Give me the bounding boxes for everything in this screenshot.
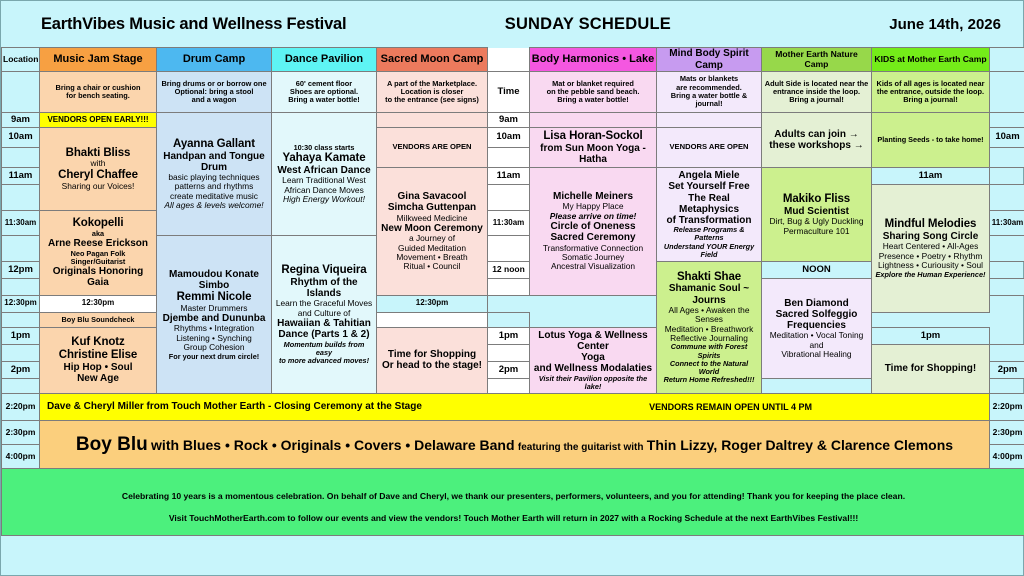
column-header-kids-mother-earth[interactable]: KIDS at Mother Earth Camp (872, 48, 990, 72)
location-label: Location (2, 48, 40, 72)
program-line: these workshops → (765, 140, 868, 151)
time-mid-1230pm: 12:30pm (40, 295, 157, 312)
note-kids-mother-earth: Kids of all ages is located near the ent… (872, 72, 990, 113)
program-line: Milkweed Medicine (380, 214, 484, 223)
note-line: for bench seating. (41, 92, 155, 100)
mind-vendors-open: VENDORS ARE OPEN (657, 128, 762, 168)
program-line: Vibrational Healing (765, 350, 868, 359)
schedule-table: Location Music Jam Stage Drum Camp Dance… (1, 47, 1024, 536)
time-right-noon: NOON (762, 261, 872, 278)
time-right-11am: 11am (872, 168, 990, 185)
program-line: Momentum builds from easy (275, 341, 373, 357)
finale-genres: with Blues • Rock • Originals • Covers •… (151, 437, 515, 453)
program-line: Simcha Guttenpan (380, 202, 484, 213)
note-body-harmonics: Mat or blanket required on the pebble sa… (530, 72, 657, 113)
program-line: New Age (43, 373, 153, 384)
program-line: Cheryl Chaffee (43, 169, 153, 182)
program-line: Kuf Knotz (43, 336, 153, 349)
column-header-mind-body-spirit[interactable]: Mind Body Spirit Camp (657, 48, 762, 72)
mind-9am-empty (657, 113, 762, 128)
block-music-bhakti-bliss[interactable]: Bhakti BlisswithCheryl ChaffeeSharing ou… (40, 128, 157, 211)
block-body-michelle-meiners[interactable]: Michelle MeinersMy Happy PlacePlease arr… (530, 168, 657, 296)
block-sacred-time-for-shopping[interactable]: Time for ShoppingOr head to the stage! (377, 327, 488, 393)
festival-schedule-page: EarthVibes Music and Wellness Festival S… (0, 0, 1024, 576)
program-line: Understand YOUR Energy Field (660, 243, 758, 259)
program-line: All Ages • Awaken the Senses (660, 306, 758, 325)
finale-featuring: featuring the guitarist with (518, 442, 644, 453)
program-line: The Real Metaphysics (660, 193, 758, 215)
time-right-blank-7 (762, 378, 872, 393)
program-line: Circle of Oneness (533, 221, 653, 232)
finale-artists: Thin Lizzy, Roger Daltrey & Clarence Cle… (647, 437, 953, 453)
column-header-sacred-moon-camp[interactable]: Sacred Moon Camp (377, 48, 488, 72)
block-kids-shakti-shae[interactable]: Shakti ShaeShamanic Soul ~ JournsAll Age… (657, 261, 762, 393)
time-right-400pm: 4:00pm (990, 444, 1024, 468)
column-header-dance-pavilion[interactable]: Dance Pavilion (272, 48, 377, 72)
program-line: Sharing our Voices! (43, 182, 153, 191)
time-right-9am (990, 113, 1024, 128)
program-line: Shakti Shae (660, 271, 758, 284)
closing-ceremony-row: 2:20pm Dave & Cheryl Miller from Touch M… (2, 393, 1024, 420)
program-line: Planting Seeds - to take home! (875, 136, 986, 144)
time-mid-2pm: 2pm (488, 361, 530, 378)
program-line: Rhythm of the Islands (275, 277, 373, 299)
schedule-title: SUNDAY SCHEDULE (346, 15, 889, 34)
block-drum-mamoudou-konate[interactable]: Mamoudou Konate SimboRemmi NicoleMaster … (157, 236, 272, 394)
footer-thankyou-text: Celebrating 10 years is a momentous cele… (3, 492, 1024, 502)
program-line: and Wellness Modalaties (533, 363, 653, 374)
time-left-12pm: 12pm (2, 261, 40, 278)
time-right-blank-2 (990, 185, 1024, 211)
time-right-blank-6 (990, 344, 1024, 361)
program-line: Connect to the Natural World (660, 360, 758, 376)
program-line: Dance (Parts 1 & 2) (275, 329, 373, 340)
schedule-row-1pm: 1pm Kuf KnotzChristine EliseHip Hop • So… (2, 327, 1024, 344)
note-line: Bring a water bottle! (273, 96, 375, 104)
note-music-jam-stage: Bring a chair or cushion for bench seati… (40, 72, 157, 113)
header-gap (488, 48, 530, 72)
time-left-1230pm: 12:30pm (2, 295, 40, 312)
time-left-2pm: 2pm (2, 361, 40, 378)
program-line: Originals Honoring Gaia (43, 266, 153, 288)
program-line: Release Programs & Patterns (660, 226, 758, 242)
time-left-blank-3 (2, 236, 40, 262)
program-line: Christine Elise (43, 349, 153, 362)
block-mind-ben-diamond[interactable]: Ben DiamondSacred SolfeggioFrequenciesMe… (762, 278, 872, 378)
time-right-1230pm: 12:30pm (377, 295, 488, 312)
finale-banner[interactable]: Boy Blu with Blues • Rock • Originals • … (40, 420, 990, 468)
program-line: Hip Hop • Soul (43, 362, 153, 373)
block-dance-yahaya-kamate[interactable]: 10:30 class startsYahaya KamateWest Afri… (272, 113, 377, 236)
program-line: Commune with Forest Spirits (660, 343, 758, 359)
block-drum-ayanna-gallant[interactable]: Ayanna GallantHandpan and Tongue Drumbas… (157, 113, 272, 236)
right-header-spacer (990, 48, 1024, 72)
program-line: Gina Savacool (380, 191, 484, 202)
time-mid-11am: 11am (488, 168, 530, 185)
time-left-11am: 11am (2, 168, 40, 185)
note-line: Bring a journal! (873, 96, 988, 104)
time-column-label: Time (488, 72, 530, 113)
program-line: Please arrive on time! (533, 212, 653, 221)
time-left-9am: 9am (2, 113, 40, 128)
program-line: Explore the Human Experience! (875, 271, 986, 279)
footer-row: Celebrating 10 years is a momentous cele… (2, 468, 1024, 535)
table-header-row: Location Music Jam Stage Drum Camp Dance… (2, 48, 1024, 72)
time-left-blank-2 (2, 185, 40, 211)
time-right-blank-1 (990, 148, 1024, 168)
program-line: Handpan and Tongue Drum (160, 151, 268, 173)
program-line: Boy Blu Soundcheck (43, 316, 153, 324)
program-line: Yahaya Kamate (275, 152, 373, 165)
program-line: Ben Diamond (765, 298, 868, 309)
program-line: Adults can join → (765, 129, 868, 140)
time-right-blank-3 (990, 236, 1024, 262)
time-mid-blank-5 (377, 312, 488, 327)
note-line: and a wagon (158, 96, 270, 104)
block-music-kuf-knotz[interactable]: Kuf KnotzChristine EliseHip Hop • SoulNe… (40, 327, 157, 393)
program-line: Angela Miele (660, 170, 758, 181)
time-left-400pm: 4:00pm (2, 444, 40, 468)
time-left-blank-4 (2, 278, 40, 295)
block-earth-adults-join[interactable]: Adults can join →these workshops → (762, 113, 872, 168)
time-left-10am: 10am (2, 128, 40, 148)
notes-left-spacer (2, 72, 40, 113)
time-right-blank-5 (488, 312, 530, 327)
closing-ceremony-text: Dave & Cheryl Miller from Touch Mother E… (47, 401, 422, 412)
closing-ceremony-banner[interactable]: Dave & Cheryl Miller from Touch Mother E… (40, 393, 990, 420)
program-line: Yoga (533, 352, 653, 363)
program-line: Visit their Pavilion opposite the lake! (533, 375, 653, 391)
column-header-mother-earth-nature[interactable]: Mother Earth Nature Camp (762, 48, 872, 72)
note-mind-body-spirit: Mats or blankets are recommended. Bring … (657, 72, 762, 113)
program-line: Arne Reese Erickson (43, 238, 153, 249)
note-drum-camp: Bring drums or or borrow one Optional: b… (157, 72, 272, 113)
note-sacred-moon-camp: A part of the Marketplace. Location is c… (377, 72, 488, 113)
time-right-2pm: 2pm (990, 361, 1024, 378)
column-header-music-jam-stage[interactable]: Music Jam Stage (40, 48, 157, 72)
block-earth-mindful-melodies[interactable]: Mindful MelodiesSharing Song CircleHeart… (872, 185, 990, 313)
program-line: Remmi Nicole (160, 291, 268, 304)
block-music-kokopelli[interactable]: KokopelliakaArne Reese EricksonNeo Pagan… (40, 210, 157, 295)
time-left-blank-7 (2, 378, 40, 393)
title-bar: EarthVibes Music and Wellness Festival S… (1, 1, 1023, 47)
note-line: Bring a water bottle & journal! (658, 92, 760, 109)
block-earth-time-for-shopping[interactable]: Time for Shopping! (872, 344, 990, 393)
program-line: All ages & levels welcome! (160, 201, 268, 210)
program-line: Mamoudou Konate Simbo (160, 269, 268, 291)
sacred-vendors-open: VENDORS ARE OPEN (377, 128, 488, 168)
time-right-1pm: 1pm (872, 327, 990, 344)
time-left-blank-6 (2, 344, 40, 361)
program-line: and Culture of (275, 309, 373, 318)
time-mid-blank-1 (488, 148, 530, 168)
vendors-remain-open-text: VENDORS REMAIN OPEN UNTIL 4 PM (649, 402, 812, 412)
note-line: Bring a water bottle! (531, 96, 655, 104)
time-right-230pm: 2:30pm (990, 420, 1024, 444)
program-line: Time for Shopping! (875, 363, 986, 374)
time-left-blank-1 (2, 148, 40, 168)
block-mind-angela-miele[interactable]: Angela MieleSet Yourself FreeThe Real Me… (657, 168, 762, 262)
time-mid-1130am: 11:30am (488, 210, 530, 236)
music-soundcheck-cell[interactable]: Boy Blu Soundcheck (40, 312, 157, 327)
program-line: Ayanna Gallant (160, 138, 268, 151)
program-line: Regina Viqueira (275, 264, 373, 277)
time-mid-blank-4 (488, 278, 530, 295)
notes-right-spacer (990, 72, 1024, 113)
program-line: Lotus Yoga & Wellness Center (533, 330, 653, 352)
time-mid-9am: 9am (488, 113, 530, 128)
note-mother-earth-nature: Adult Side is located near the entrance … (762, 72, 872, 113)
footer-banner: Celebrating 10 years is a momentous cele… (2, 468, 1024, 535)
program-line: to more advanced moves! (275, 357, 373, 365)
program-line: Shamanic Soul ~ Journs (660, 283, 758, 305)
program-line: High Energy Workout! (275, 195, 373, 204)
time-mid-blank-6 (488, 344, 530, 361)
block-sacred-gina-savacool[interactable]: Gina SavacoolSimcha GuttenpanMilkweed Me… (377, 168, 488, 296)
block-body-lotus-yoga[interactable]: Lotus Yoga & Wellness CenterYogaand Well… (530, 327, 657, 393)
time-right-220pm: 2:20pm (990, 393, 1024, 420)
time-mid-blank-2 (488, 185, 530, 211)
time-mid-1pm: 1pm (488, 327, 530, 344)
program-line: 10:30 class starts (275, 144, 373, 152)
time-left-230pm: 2:30pm (2, 420, 40, 444)
program-line: from Sun Moon Yoga - Hatha (533, 143, 653, 165)
program-line: Master Drummers (160, 304, 268, 313)
program-line: Mindful Melodies (875, 218, 986, 231)
program-line: Permaculture 101 (765, 227, 868, 236)
vendors-open-early-banner: VENDORS OPEN EARLY!!! (40, 113, 157, 128)
program-line: Lisa Horan-Sockol (533, 130, 653, 143)
time-mid-12noon: 12 noon (488, 261, 530, 278)
time-right-1130am: 11:30am (990, 210, 1024, 236)
program-line: Ancestral Visualization (533, 262, 653, 271)
program-line: with (43, 159, 153, 168)
time-right-blank-4 (990, 278, 1024, 295)
body-9am-empty (530, 113, 657, 128)
time-left-1pm: 1pm (2, 327, 40, 344)
time-left-1130am: 11:30am (2, 210, 40, 236)
program-line: Ritual • Council (380, 262, 484, 271)
finale-row-start: 2:30pm Boy Blu with Blues • Rock • Origi… (2, 420, 1024, 444)
block-kids-planting-seeds[interactable]: Planting Seeds - to take home! (872, 113, 990, 168)
program-line: Makiko Fliss (765, 193, 868, 206)
block-body-lisa-horan-sockol[interactable]: Lisa Horan-Sockolfrom Sun Moon Yoga - Ha… (530, 128, 657, 168)
program-line: Set Yourself Free (660, 181, 758, 192)
program-line: Or head to the stage! (380, 360, 484, 371)
table-notes-row: Bring a chair or cushion for bench seati… (2, 72, 1024, 113)
block-dance-regina-viqueira[interactable]: Regina ViqueiraRhythm of the IslandsLear… (272, 236, 377, 394)
schedule-row-9am: 9am VENDORS OPEN EARLY!!! Ayanna Gallant… (2, 113, 1024, 128)
program-line: Sacred Ceremony (533, 232, 653, 243)
program-line: Sacred Solfeggio (765, 309, 868, 320)
time-mid-blank-3 (488, 236, 530, 262)
column-header-drum-camp[interactable]: Drum Camp (157, 48, 272, 72)
program-line: aka (43, 230, 153, 238)
time-left-220pm: 2:20pm (2, 393, 40, 420)
schedule-date: June 14th, 2026 (889, 16, 1009, 33)
program-line: Neo Pagan Folk Singer/Guitarist (43, 250, 153, 266)
program-line: For your next drum circle! (160, 353, 268, 361)
time-left-blank-5 (2, 312, 40, 327)
time-mid-blank-7 (488, 378, 530, 393)
sacred-9am-empty (377, 113, 488, 128)
note-line: to the entrance (see signs) (378, 96, 486, 104)
program-line: Return Home Refreshed!!! (660, 376, 758, 384)
note-dance-pavilion: 60' cement floor Shoes are optional. Bri… (272, 72, 377, 113)
festival-title: EarthVibes Music and Wellness Festival (15, 15, 346, 34)
time-right-10am: 10am (990, 128, 1024, 148)
program-line: Hawaiian & Tahitian (275, 318, 373, 329)
footer-website-text: Visit TouchMotherEarth.com to follow our… (3, 514, 1024, 524)
time-mid-10am: 10am (488, 128, 530, 148)
note-line: Bring a journal! (763, 96, 870, 104)
column-header-body-harmonics[interactable]: Body Harmonics • Lake (530, 48, 657, 72)
finale-headline: Boy Blu (76, 434, 148, 455)
block-kids-makiko-fliss[interactable]: Makiko FlissMud ScientistDirt, Bug & Ugl… (762, 168, 872, 262)
program-line: Time for Shopping (380, 349, 484, 360)
